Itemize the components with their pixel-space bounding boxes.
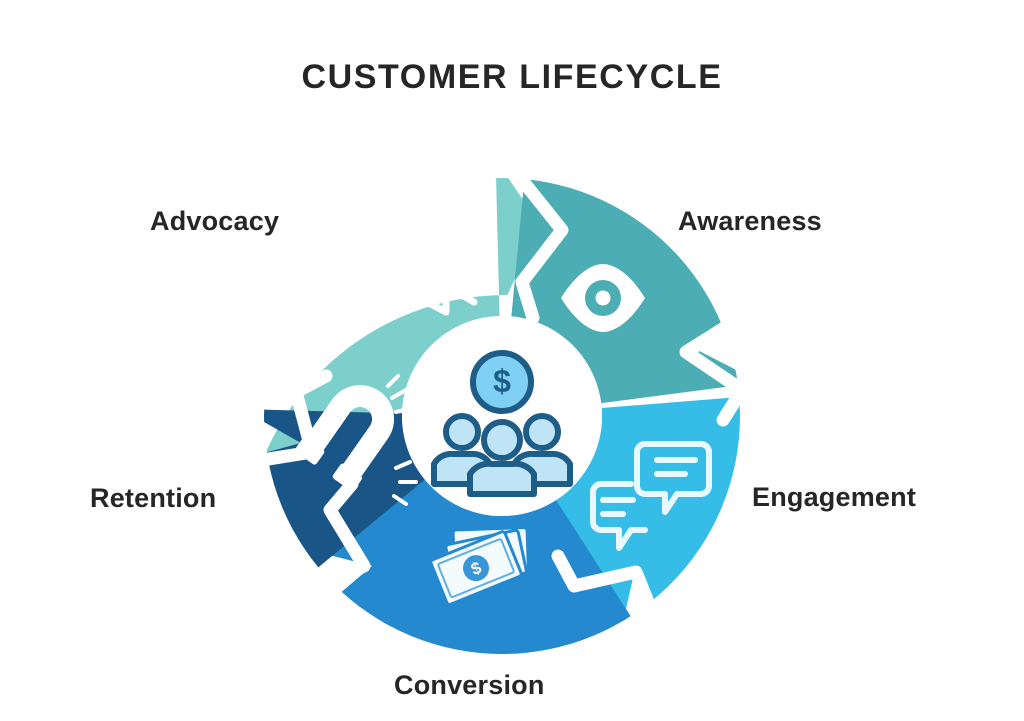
customer-lifecycle-wheel: $ $ — [0, 0, 1024, 721]
stage-label-advocacy[interactable]: Advocacy — [150, 206, 279, 237]
stage-label-retention[interactable]: Retention — [90, 483, 216, 514]
stage-label-awareness[interactable]: Awareness — [678, 206, 822, 237]
stage-label-engagement[interactable]: Engagement — [752, 482, 916, 513]
stage-label-conversion[interactable]: Conversion — [394, 670, 545, 701]
svg-text:$: $ — [493, 363, 511, 399]
